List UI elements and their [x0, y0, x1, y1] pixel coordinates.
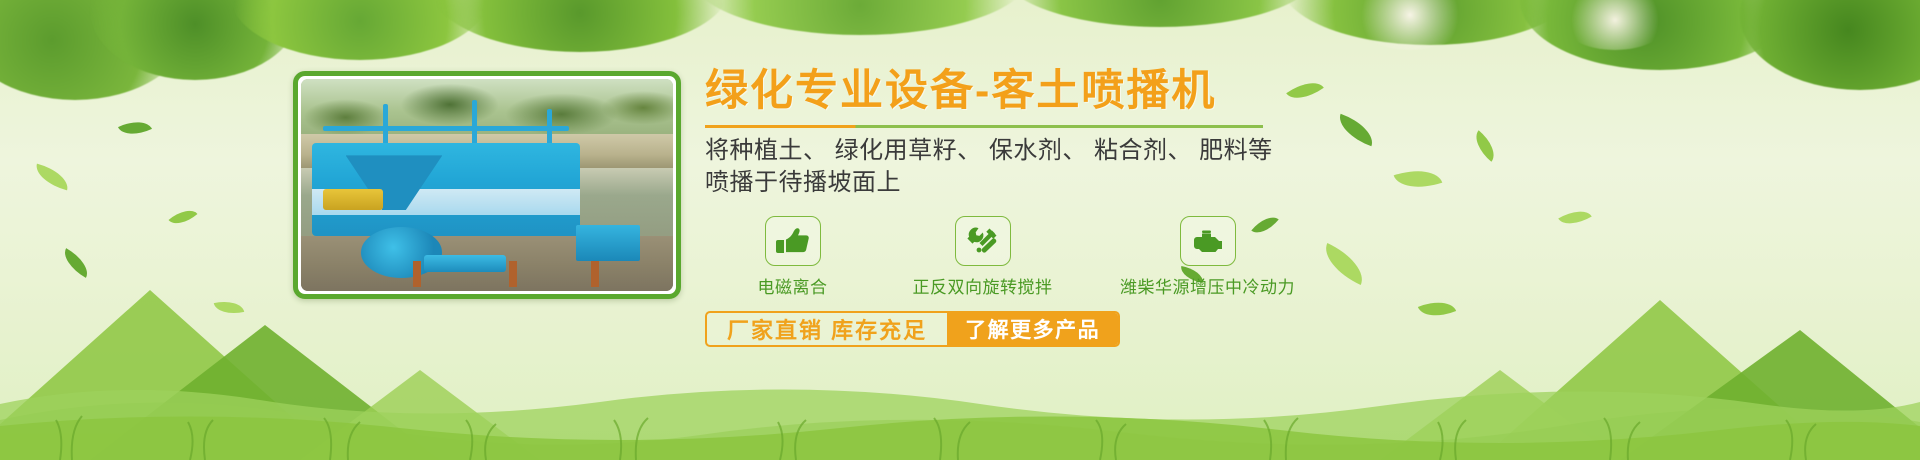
banner-headline: 绿化专业设备-客土喷播机: [705, 66, 1705, 117]
feature-item-2[interactable]: 正反双向旋转搅拌: [880, 216, 1085, 298]
cta-bar: 厂家直销 库存充足 了解更多产品: [705, 311, 1120, 347]
feature-icon-box-1: [765, 216, 821, 266]
banner-subtitle: 将种植土、 绿化用草籽、 保水剂、 粘合剂、 肥料等 喷播于待播坡面上: [705, 135, 1705, 200]
engine-icon: [1191, 226, 1225, 256]
cta-slogan: 厂家直销 库存充足: [707, 313, 947, 345]
banner-content: 绿化专业设备-客土喷播机 将种植土、 绿化用草籽、 保水剂、 粘合剂、 肥料等 …: [705, 66, 1705, 347]
grass-foreground: [0, 330, 1920, 460]
feature-icon-box-3: [1180, 216, 1236, 266]
feature-item-3[interactable]: 潍柴华源增压中冷动力: [1085, 216, 1330, 298]
feature-icon-box-2: [955, 216, 1011, 266]
feature-list: 电磁离合 正反双向旋转搅拌: [705, 216, 1705, 298]
feature-item-1[interactable]: 电磁离合: [705, 216, 880, 298]
feature-label-1: 电磁离合: [705, 273, 880, 298]
thumbs-up-icon: [776, 226, 810, 256]
banner-subtitle-line-2: 喷播于待播坡面上: [705, 167, 1705, 200]
product-photo[interactable]: [293, 71, 681, 299]
product-photo-image: [301, 79, 673, 291]
headline-divider: [705, 125, 1263, 128]
wrench-screwdriver-icon: [966, 225, 1000, 257]
banner-subtitle-line-1: 将种植土、 绿化用草籽、 保水剂、 粘合剂、 肥料等: [705, 135, 1705, 168]
feature-label-3: 潍柴华源增压中冷动力: [1085, 273, 1330, 298]
feature-label-2: 正反双向旋转搅拌: [880, 273, 1085, 298]
promo-banner: 绿化专业设备-客土喷播机 将种植土、 绿化用草籽、 保水剂、 粘合剂、 肥料等 …: [0, 0, 1920, 460]
learn-more-button[interactable]: 了解更多产品: [947, 313, 1118, 345]
